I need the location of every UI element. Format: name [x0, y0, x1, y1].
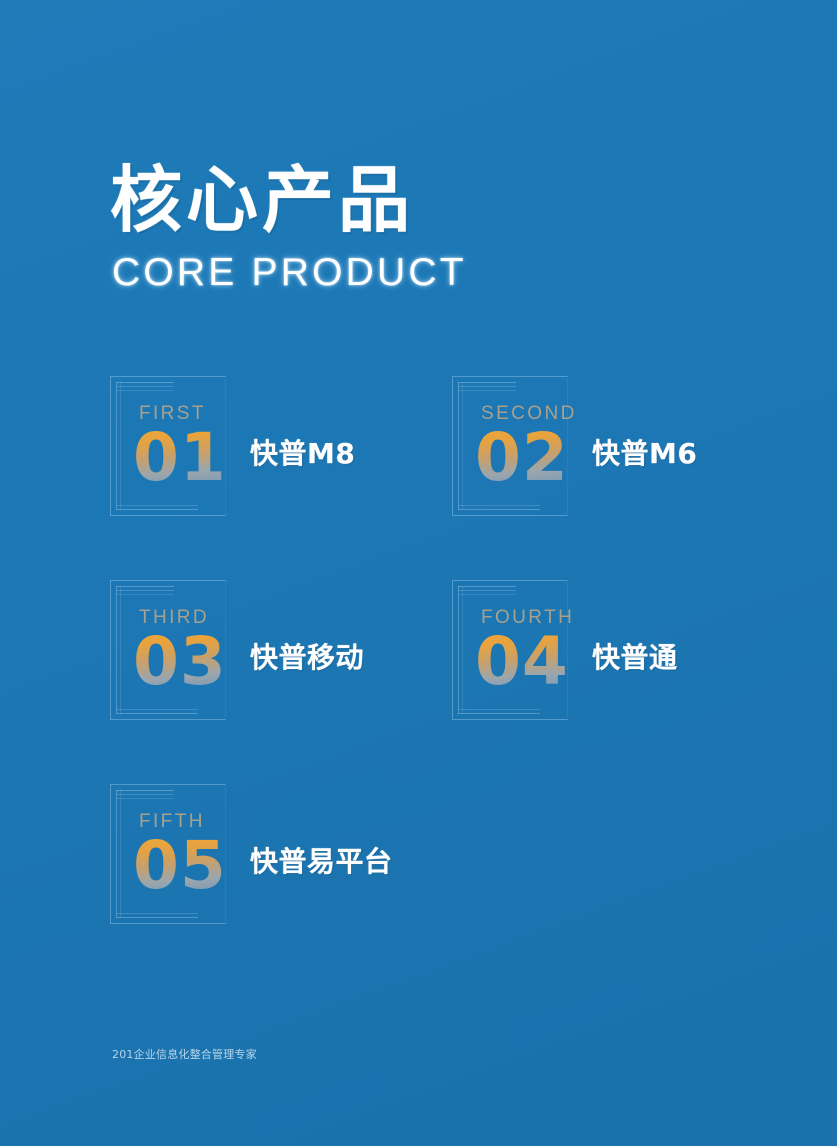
page-title-chinese: 核心产品 — [110, 163, 710, 239]
frame-accent-lines — [458, 586, 459, 714]
card-frame: FIRST 01 — [110, 376, 226, 516]
product-card-grid: FIRST 01 快普M8 SECOND 02 快普M6 THIRD — [0, 376, 837, 988]
frame-accent-lines — [458, 382, 459, 510]
card-number: 03 — [133, 629, 227, 695]
product-card-05[interactable]: FIFTH 05 快普易平台 — [110, 784, 393, 924]
card-frame: THIRD 03 — [110, 580, 226, 720]
card-number: 05 — [133, 833, 227, 899]
page-title-english: CORE PRODUCT — [112, 251, 710, 295]
card-row-1: FIRST 01 快普M8 SECOND 02 快普M6 — [0, 376, 837, 580]
card-frame: SECOND 02 — [452, 376, 568, 516]
card-product-title: 快普M6 — [592, 432, 697, 472]
card-number: 01 — [133, 425, 227, 491]
product-card-03[interactable]: THIRD 03 快普移动 — [110, 580, 364, 720]
card-row-2: THIRD 03 快普移动 FOURTH 04 快普通 — [0, 580, 837, 784]
product-card-02[interactable]: SECOND 02 快普M6 — [452, 376, 697, 516]
card-product-title: 快普移动 — [250, 636, 364, 676]
product-card-01[interactable]: FIRST 01 快普M8 — [110, 376, 355, 516]
slide-background: 核心产品 CORE PRODUCT FIRST 01 快普M8 SECOND 0… — [0, 0, 837, 1146]
card-number: 04 — [475, 629, 569, 695]
frame-accent-lines — [116, 382, 117, 510]
frame-accent-lines — [116, 790, 117, 918]
footer-tagline: 201企业信息化整合管理专家 — [112, 1046, 257, 1062]
card-product-title: 快普易平台 — [250, 840, 393, 880]
card-frame: FIFTH 05 — [110, 784, 226, 924]
card-product-title: 快普M8 — [250, 432, 355, 472]
card-number: 02 — [475, 425, 569, 491]
frame-accent-lines — [116, 586, 117, 714]
page-header: 核心产品 CORE PRODUCT — [110, 163, 710, 295]
product-card-04[interactable]: FOURTH 04 快普通 — [452, 580, 678, 720]
card-product-title: 快普通 — [592, 636, 678, 676]
card-row-3: FIFTH 05 快普易平台 — [0, 784, 837, 988]
card-frame: FOURTH 04 — [452, 580, 568, 720]
